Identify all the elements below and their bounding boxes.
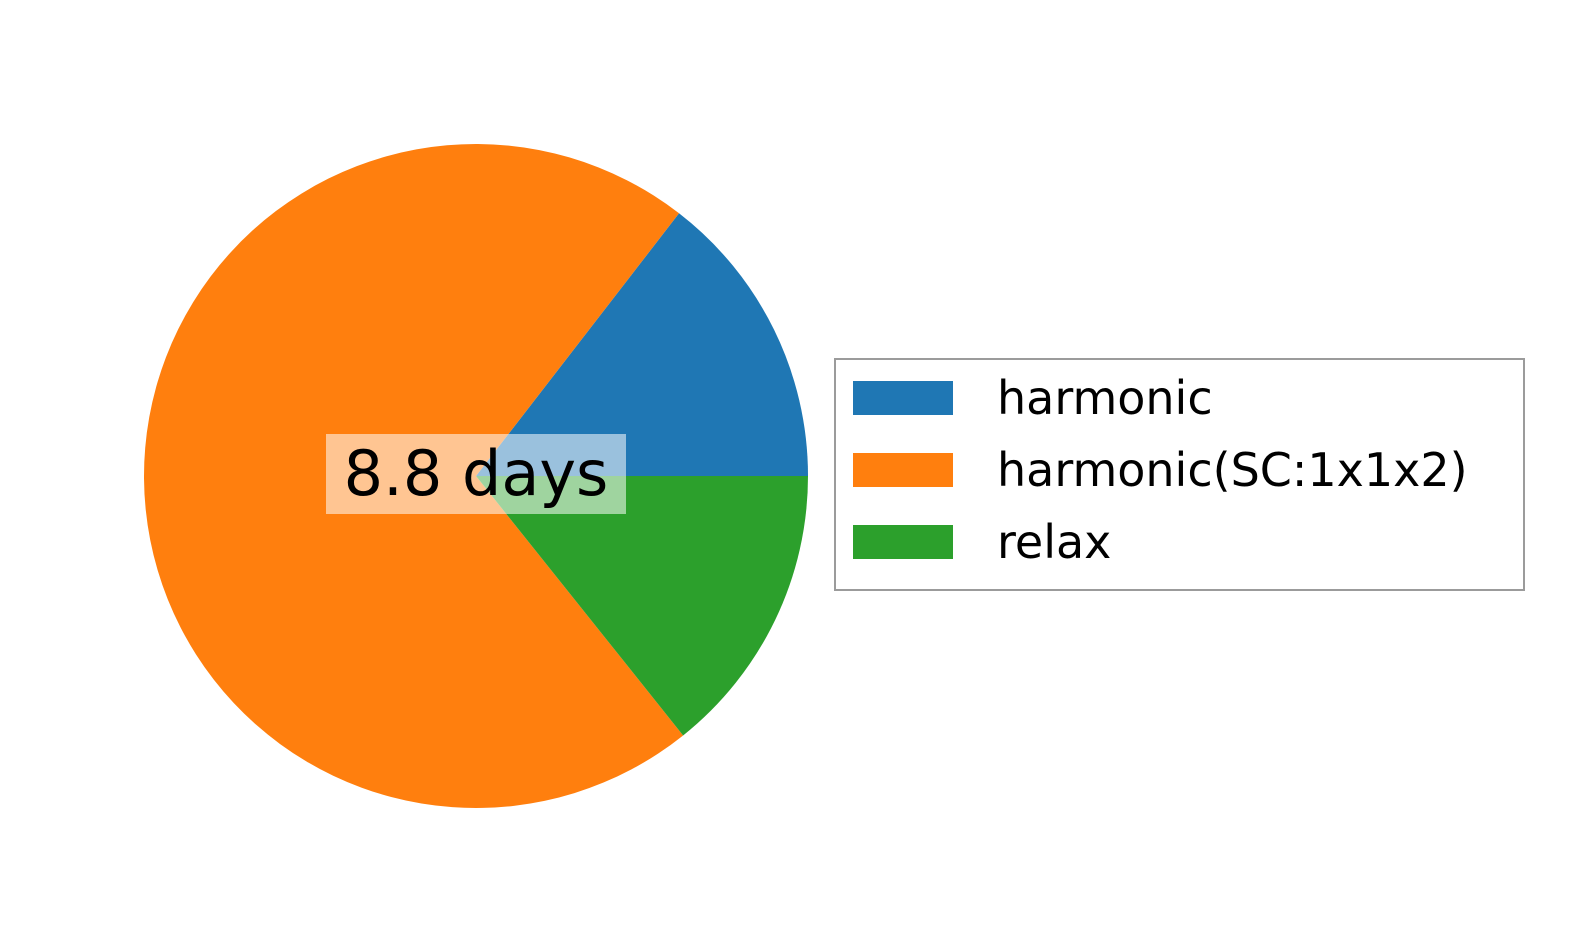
pie-chart-figure: 8.8 days harmonic harmonic(SC:1x1x2) rel…: [0, 0, 1584, 951]
legend-swatch-harmonic: [853, 381, 953, 415]
legend-item-relax[interactable]: relax: [853, 525, 1111, 559]
legend-swatch-harmonic-sc: [853, 453, 953, 487]
legend-swatch-relax: [853, 525, 953, 559]
legend-item-harmonic[interactable]: harmonic: [853, 381, 1213, 415]
legend-label-relax: relax: [997, 525, 1111, 559]
chart-legend: harmonic harmonic(SC:1x1x2) relax: [834, 358, 1525, 591]
pie-center-label: 8.8 days: [326, 434, 626, 514]
legend-item-harmonic-sc[interactable]: harmonic(SC:1x1x2): [853, 453, 1468, 487]
pie-center-label-text: 8.8 days: [344, 443, 609, 505]
legend-label-harmonic-sc: harmonic(SC:1x1x2): [997, 453, 1468, 487]
legend-label-harmonic: harmonic: [997, 381, 1213, 415]
